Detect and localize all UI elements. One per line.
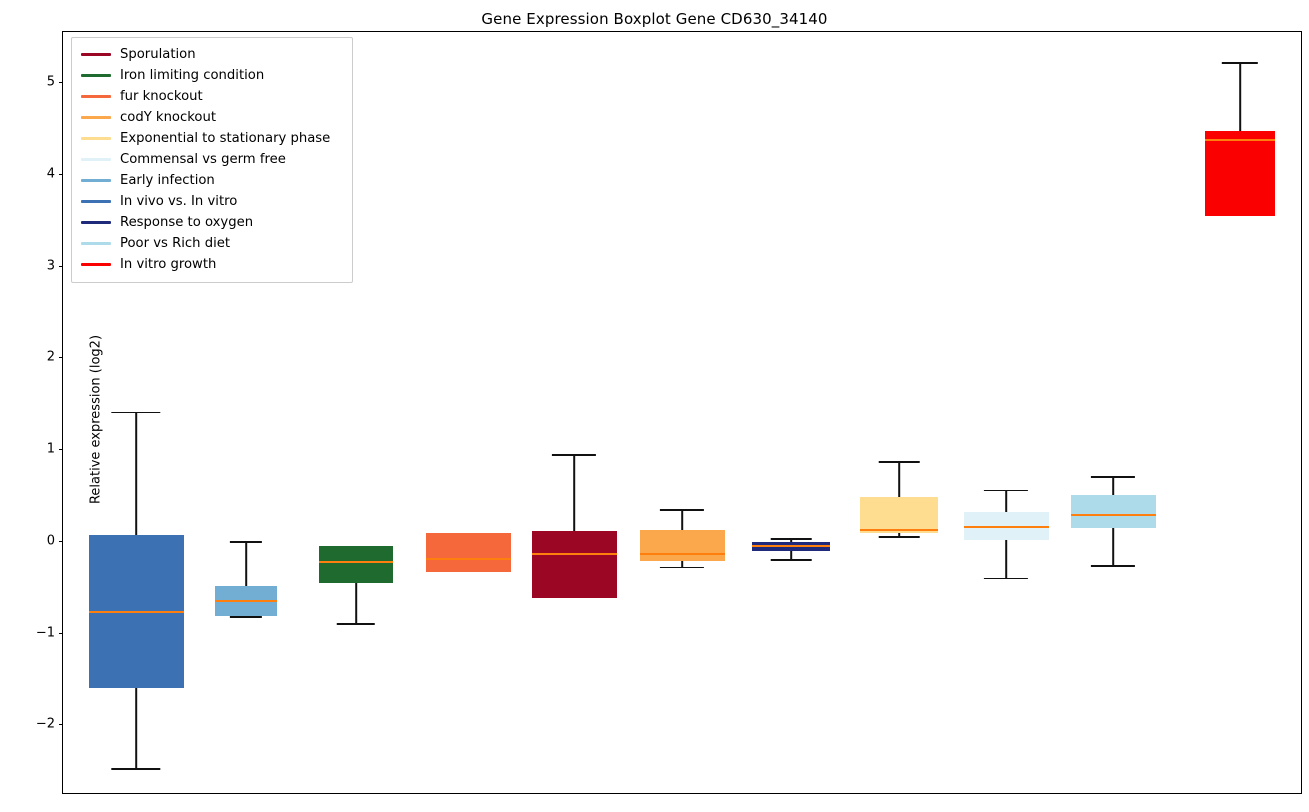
median-line (1205, 139, 1275, 141)
legend-item[interactable]: Commensal vs germ free (81, 149, 343, 170)
legend-color-swatch-icon (81, 137, 111, 139)
box-rect (860, 497, 938, 533)
box-rect (426, 533, 511, 572)
median-line (964, 526, 1049, 528)
whisker-lower (355, 583, 357, 625)
whisker-lower (135, 688, 137, 770)
y-tick-label: −1 (33, 625, 55, 640)
boxplot-item (426, 32, 511, 793)
whisker-upper (245, 541, 247, 586)
median-line (215, 600, 277, 602)
legend-item-label: In vitro growth (120, 254, 216, 275)
whisker-cap-lower (337, 623, 375, 625)
y-tick-label: 1 (33, 442, 55, 457)
whisker-upper (681, 509, 683, 530)
legend-item[interactable]: Sporulation (81, 44, 343, 65)
legend-item-label: Exponential to stationary phase (120, 128, 330, 149)
whisker-cap-lower (771, 559, 812, 561)
legend-item[interactable]: codY knockout (81, 107, 343, 128)
whisker-cap-lower (111, 768, 160, 770)
whisker-cap-upper (771, 538, 812, 540)
legend-item[interactable]: In vitro growth (81, 254, 343, 275)
box-rect (532, 531, 617, 598)
whisker-lower (1005, 540, 1007, 579)
box-rect (319, 546, 393, 583)
legend-color-swatch-icon (81, 95, 111, 97)
median-line (319, 561, 393, 563)
legend-item[interactable]: Early infection (81, 170, 343, 191)
legend-item[interactable]: Iron limiting condition (81, 65, 343, 86)
boxplot-item (860, 32, 938, 793)
legend-item-label: fur knockout (120, 86, 203, 107)
median-line (1071, 514, 1156, 516)
chart-legend: SporulationIron limiting conditionfur kn… (71, 37, 353, 283)
legend-item-label: Early infection (120, 170, 215, 191)
y-tick-label: −2 (33, 717, 55, 732)
boxplot-item (752, 32, 830, 793)
y-tick-label: 3 (33, 258, 55, 273)
y-tick-label: 5 (33, 75, 55, 90)
box-rect (1071, 495, 1156, 528)
legend-item[interactable]: Poor vs Rich diet (81, 233, 343, 254)
whisker-cap-upper (879, 461, 920, 463)
whisker-cap-lower (984, 578, 1028, 580)
median-line (89, 611, 184, 613)
legend-color-swatch-icon (81, 179, 111, 181)
legend-item-label: Commensal vs germ free (120, 149, 286, 170)
legend-item[interactable]: Exponential to stationary phase (81, 128, 343, 149)
legend-item-label: Sporulation (120, 44, 196, 65)
whisker-lower (1112, 528, 1114, 567)
box-rect (640, 530, 725, 561)
figure-canvas: Gene Expression Boxplot Gene CD630_34140… (0, 0, 1309, 812)
median-line (532, 553, 617, 555)
boxplot-item (1205, 32, 1275, 793)
whisker-cap-upper (660, 509, 704, 511)
whisker-cap-lower (230, 616, 262, 618)
legend-color-swatch-icon (81, 116, 111, 118)
boxplot-item (532, 32, 617, 793)
whisker-cap-upper (230, 541, 262, 543)
whisker-upper (135, 412, 137, 536)
y-tick-label: 0 (33, 533, 55, 548)
chart-title: Gene Expression Boxplot Gene CD630_34140 (0, 10, 1309, 28)
y-tick-label: 4 (33, 167, 55, 182)
median-line (752, 545, 830, 547)
legend-item[interactable]: Response to oxygen (81, 212, 343, 233)
legend-color-swatch-icon (81, 158, 111, 160)
whisker-upper (1239, 62, 1241, 131)
whisker-cap-upper (552, 454, 596, 456)
median-line (860, 529, 938, 531)
legend-color-swatch-icon (81, 74, 111, 76)
boxplot-item (640, 32, 725, 793)
whisker-cap-lower (660, 567, 704, 569)
legend-item-label: In vivo vs. In vitro (120, 191, 237, 212)
whisker-cap-upper (1222, 62, 1258, 64)
whisker-upper (1112, 476, 1114, 495)
legend-color-swatch-icon (81, 221, 111, 223)
boxplot-item (1071, 32, 1156, 793)
legend-color-swatch-icon (81, 200, 111, 202)
legend-item-label: Iron limiting condition (120, 65, 264, 86)
legend-item-label: Poor vs Rich diet (120, 233, 230, 254)
boxplot-item (964, 32, 1049, 793)
whisker-cap-lower (1091, 565, 1135, 567)
plot-area: Relative expression (log2) −2−1012345 Sp… (62, 31, 1302, 794)
legend-item[interactable]: fur knockout (81, 86, 343, 107)
whisker-upper (573, 454, 575, 531)
whisker-cap-upper (1091, 476, 1135, 478)
whisker-cap-upper (984, 490, 1028, 492)
legend-color-swatch-icon (81, 53, 111, 55)
whisker-upper (898, 461, 900, 497)
legend-item-label: codY knockout (120, 107, 216, 128)
y-tick-label: 2 (33, 350, 55, 365)
legend-item[interactable]: In vivo vs. In vitro (81, 191, 343, 212)
box-rect (1205, 131, 1275, 216)
legend-color-swatch-icon (81, 242, 111, 244)
whisker-upper (1005, 490, 1007, 512)
legend-color-swatch-icon (81, 263, 111, 265)
median-line (426, 558, 511, 560)
whisker-cap-upper (111, 412, 160, 414)
legend-item-label: Response to oxygen (120, 212, 253, 233)
whisker-cap-lower (879, 536, 920, 538)
median-line (640, 553, 725, 555)
